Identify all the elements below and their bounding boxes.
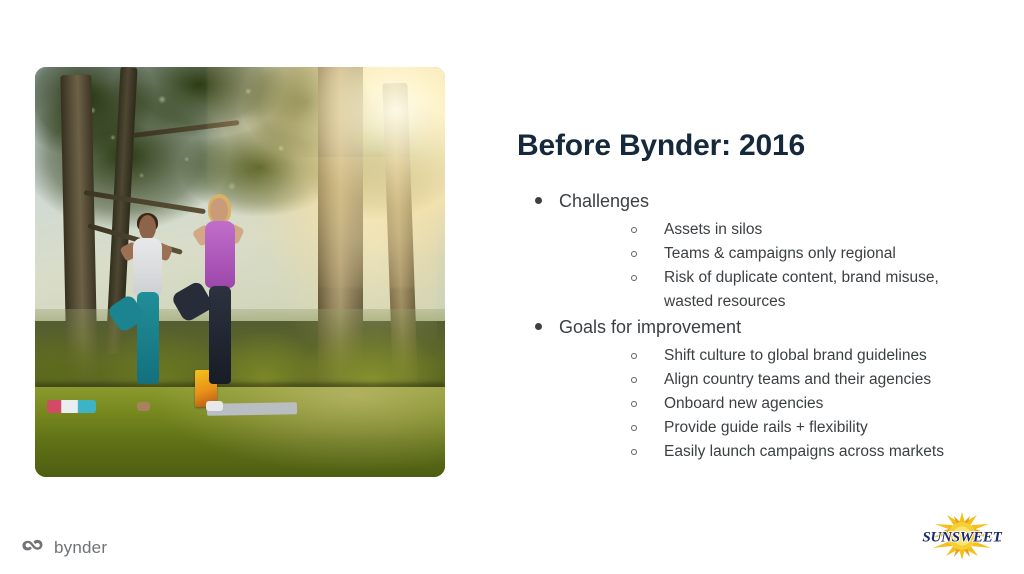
bullet-level2-item: Onboard new agencies [517,392,995,416]
hollow-circle-icon [517,266,664,281]
bynder-logo: bynder [22,538,107,558]
hollow-circle-icon [517,368,664,383]
bullet-level2-label: Teams & campaigns only regional [664,242,896,266]
bullet-level2-label: Easily launch campaigns across markets [664,440,944,464]
bullet-level2-item: Risk of duplicate content, brand misuse,… [517,266,995,314]
text-content-column: Before Bynder: 2016 Challenges Assets in… [517,128,995,464]
hollow-circle-icon [517,440,664,455]
bullet-level2-item: Shift culture to global brand guidelines [517,344,995,368]
bullet-level2-item: Provide guide rails + flexibility [517,416,995,440]
bullet-level2-item: Align country teams and their agencies [517,368,995,392]
hollow-circle-icon [517,242,664,257]
legs-teal-leggings [137,292,159,384]
bynder-heart-mark-icon [22,538,46,558]
svg-text:SUNSWEET: SUNSWEET [922,530,1002,546]
filled-dot-icon [517,314,559,330]
bullet-level2-label: Onboard new agencies [664,392,823,416]
svg-text:™: ™ [997,539,1002,544]
bullet-level2-label: Align country teams and their agencies [664,368,931,392]
sunsweet-wordmark: SUNSWEET ™ [922,530,1002,546]
head [210,198,227,223]
bullet-level2-label: Shift culture to global brand guidelines [664,344,927,368]
sunsweet-logo: SUNSWEET ™ [918,510,1006,562]
shoe [206,401,223,411]
bullet-level2-item: Easily launch campaigns across markets [517,440,995,464]
torso-purple-tank [205,221,236,288]
bullet-level1-label: Goals for improvement [559,314,741,342]
legs-dark-leggings [209,286,231,384]
bullet-level2-item: Assets in silos [517,218,995,242]
bullet-level2-label: Provide guide rails + flexibility [664,416,868,440]
hollow-circle-icon [517,392,664,407]
person-left-yoga-pose [117,215,183,408]
foot [137,402,150,412]
towel-on-grass [47,400,96,413]
person-right-yoga-pose [187,198,257,407]
hollow-circle-icon [517,416,664,431]
hollow-circle-icon [517,218,664,233]
bullet-level1-label: Challenges [559,188,649,216]
bullet-level2-item: Teams & campaigns only regional [517,242,995,266]
bullet-level1-goals: Goals for improvement [517,314,995,342]
bynder-wordmark: bynder [54,538,107,558]
hollow-circle-icon [517,344,664,359]
yoga-park-photo [35,67,445,477]
filled-dot-icon [517,188,559,204]
slide-title: Before Bynder: 2016 [517,128,995,164]
head [139,215,156,240]
torso-tank-top [133,238,162,296]
photo-scene [35,67,445,477]
bullet-level2-label: Assets in silos [664,218,762,242]
bullet-list: Challenges Assets in silos Teams & campa… [517,188,995,464]
bullet-level2-label: Risk of duplicate content, brand misuse,… [664,266,964,314]
bullet-level1-challenges: Challenges [517,188,995,216]
slide-canvas: Before Bynder: 2016 Challenges Assets in… [0,0,1024,574]
